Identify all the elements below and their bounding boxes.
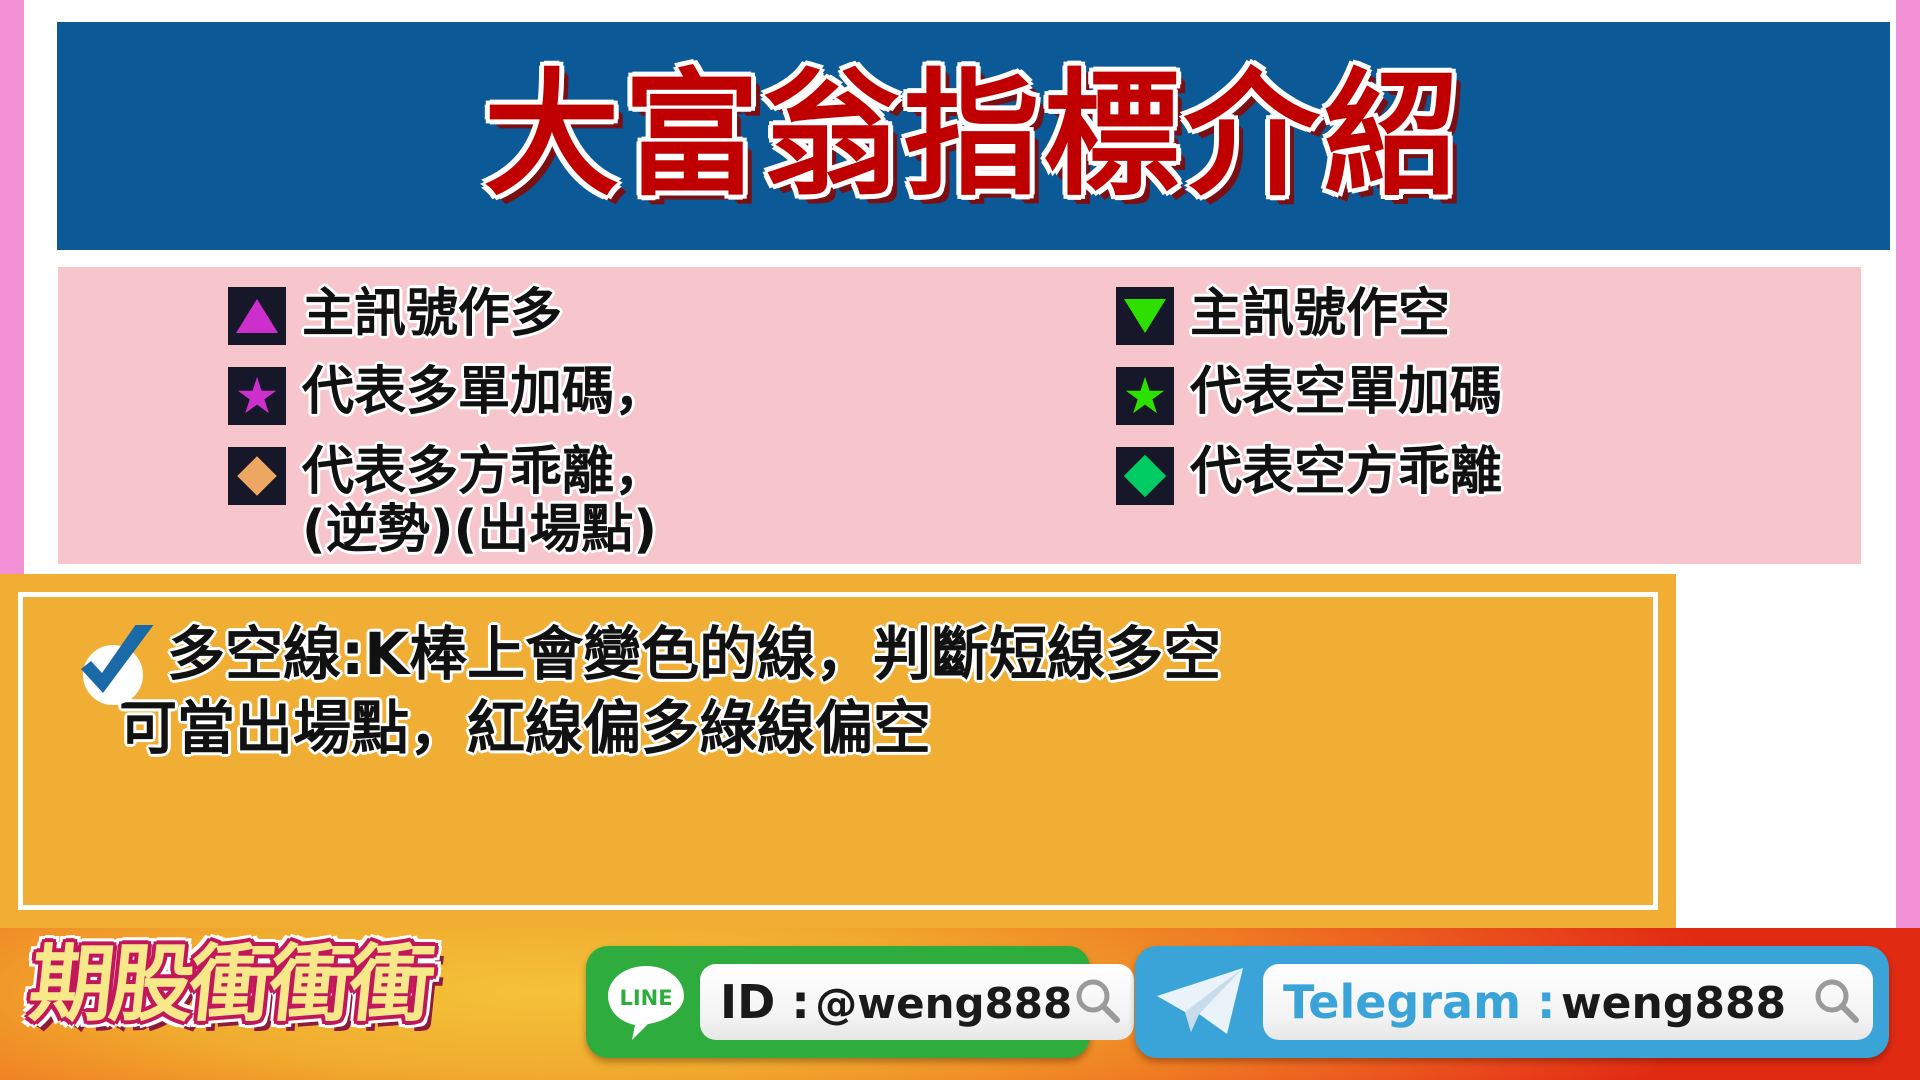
telegram-label: Telegram : — [1283, 975, 1555, 1029]
line-id-label: ID : — [720, 975, 810, 1029]
legend-label: 主訊號作多 — [302, 285, 562, 343]
line-contact-chip[interactable]: LINE ID : @weng888 — [586, 946, 1090, 1058]
telegram-id-text: Telegram : weng888 — [1283, 975, 1786, 1029]
poster-root: 大富翁指標介紹 主訊號作多 ★ 代表多單加碼， — [0, 0, 1920, 1080]
legend-item-short-divergence: 代表空方乖離 — [1116, 443, 1861, 505]
line-id-text: ID : @weng888 — [720, 975, 1072, 1029]
legend-item-long-divergence: 代表多方乖離， (逆勢)(出場點) — [228, 443, 1088, 559]
telegram-contact-chip[interactable]: Telegram : weng888 — [1135, 946, 1889, 1058]
diamond-icon — [1116, 447, 1174, 505]
line-id-field[interactable]: ID : @weng888 — [700, 964, 1134, 1040]
line-id-value: @weng888 — [815, 979, 1072, 1028]
legend-column-short: 主訊號作空 ★ 代表空單加碼 代表空方乖離 — [1088, 285, 1861, 564]
triangle-up-icon — [228, 287, 286, 345]
star-icon: ★ — [228, 367, 286, 425]
telegram-value: weng888 — [1561, 978, 1786, 1029]
search-icon[interactable] — [1072, 975, 1122, 1029]
line-logo-icon: LINE — [604, 960, 688, 1044]
star-icon: ★ — [1116, 367, 1174, 425]
diamond-icon — [228, 447, 286, 505]
note-box: 多空線:K棒上會變色的線，判斷短線多空可當出場點，紅線偏多綠線偏空 — [0, 574, 1676, 928]
search-icon[interactable] — [1811, 975, 1861, 1029]
brand-logo: 期股衝衝衝 — [26, 942, 435, 1026]
legend-label: 代表多方乖離， (逆勢)(出場點) — [302, 443, 666, 559]
legend-label: 代表空單加碼 — [1190, 363, 1502, 421]
telegram-logo-icon — [1153, 962, 1249, 1042]
legend-column-long: 主訊號作多 ★ 代表多單加碼， 代表多方乖離， (逆勢)(出場點) — [228, 285, 1088, 564]
legend-item-short-signal: 主訊號作空 — [1116, 285, 1861, 345]
legend-panel: 主訊號作多 ★ 代表多單加碼， 代表多方乖離， (逆勢)(出場點) — [58, 267, 1861, 564]
legend-label: 主訊號作空 — [1190, 285, 1450, 343]
legend-label: 代表空方乖離 — [1190, 443, 1502, 501]
legend-label: 代表多單加碼， — [302, 363, 666, 421]
legend-item-long-add: ★ 代表多單加碼， — [228, 363, 1088, 425]
triangle-down-icon — [1116, 287, 1174, 345]
svg-text:LINE: LINE — [619, 986, 672, 1010]
note-text: 多空線:K棒上會變色的線，判斷短線多空可當出場點，紅線偏多綠線偏空 — [167, 617, 1221, 765]
note-line-2: 可當出場點，紅線偏多綠線偏空 — [119, 691, 1221, 765]
title-banner: 大富翁指標介紹 — [57, 22, 1890, 250]
footer-contact-bar: 期股衝衝衝 LINE ID : @weng888 — [0, 928, 1920, 1080]
legend-item-short-add: ★ 代表空單加碼 — [1116, 363, 1861, 425]
note-line-1: 多空線:K棒上會變色的線，判斷短線多空 — [167, 620, 1221, 688]
telegram-id-field[interactable]: Telegram : weng888 — [1263, 964, 1873, 1040]
check-icon — [69, 625, 157, 711]
right-pink-rail — [1896, 0, 1920, 1080]
legend-item-long-signal: 主訊號作多 — [228, 285, 1088, 345]
page-title: 大富翁指標介紹 — [57, 68, 1890, 204]
